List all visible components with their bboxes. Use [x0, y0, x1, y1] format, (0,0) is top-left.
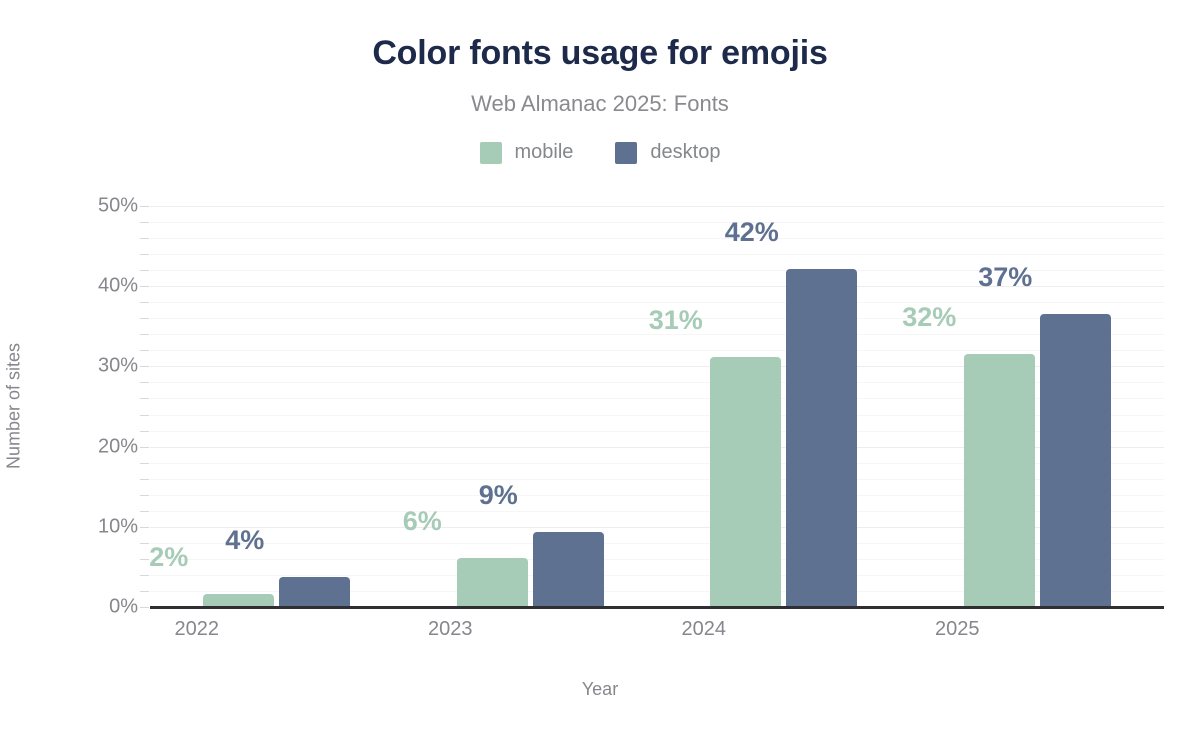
chart-legend: mobile desktop — [0, 141, 1200, 164]
gridline-minor — [150, 302, 1164, 303]
bar-desktop-2025[interactable] — [1040, 314, 1111, 607]
legend-label-desktop: desktop — [650, 141, 720, 164]
x-tick-label-2023: 2023 — [370, 618, 530, 641]
y-tick-label: 0% — [18, 596, 138, 619]
gridline-major — [150, 206, 1164, 207]
bar-value-label-desktop-2023: 9% — [428, 480, 568, 511]
bar-value-label-mobile-2024: 31% — [606, 305, 746, 336]
y-tick-mark — [140, 511, 149, 512]
y-tick-mark — [140, 286, 149, 287]
y-tick-mark — [140, 527, 149, 528]
bar-value-label-desktop-2024: 42% — [682, 217, 822, 248]
bar-desktop-2023[interactable] — [533, 532, 604, 607]
x-tick-label-2022: 2022 — [117, 618, 277, 641]
gridline-minor — [150, 238, 1164, 239]
y-tick-mark — [140, 495, 149, 496]
y-tick-mark — [140, 270, 149, 271]
chart-subtitle: Web Almanac 2025: Fonts — [0, 91, 1200, 117]
y-tick-mark — [140, 431, 149, 432]
y-tick-mark — [140, 350, 149, 351]
bar-mobile-2024[interactable] — [710, 357, 781, 607]
y-tick-label: 30% — [18, 355, 138, 378]
bar-value-label-mobile-2025: 32% — [859, 302, 999, 333]
chart-container: Color fonts usage for emojis Web Almanac… — [0, 0, 1200, 742]
gridline-minor — [150, 254, 1164, 255]
y-tick-mark — [140, 318, 149, 319]
legend-item-desktop[interactable]: desktop — [615, 141, 720, 164]
y-tick-mark — [140, 607, 149, 608]
gridline-minor — [150, 350, 1164, 351]
bar-mobile-2023[interactable] — [457, 558, 528, 607]
y-tick-mark — [140, 222, 149, 223]
y-tick-mark — [140, 366, 149, 367]
gridline-minor — [150, 222, 1164, 223]
bar-value-label-desktop-2025: 37% — [935, 262, 1075, 293]
y-tick-mark — [140, 463, 149, 464]
y-tick-mark — [140, 382, 149, 383]
x-tick-label-2024: 2024 — [624, 618, 784, 641]
y-tick-mark — [140, 447, 149, 448]
legend-item-mobile[interactable]: mobile — [480, 141, 574, 164]
y-tick-mark — [140, 302, 149, 303]
bar-desktop-2022[interactable] — [279, 577, 350, 607]
y-tick-label: 40% — [18, 275, 138, 298]
y-tick-mark — [140, 334, 149, 335]
y-tick-mark — [140, 591, 149, 592]
x-axis-title: Year — [0, 679, 1200, 700]
y-tick-mark — [140, 398, 149, 399]
y-tick-label: 20% — [18, 435, 138, 458]
y-tick-mark — [140, 479, 149, 480]
y-tick-mark — [140, 575, 149, 576]
x-tick-label-2025: 2025 — [877, 618, 1037, 641]
bar-value-label-mobile-2023: 6% — [352, 506, 492, 537]
plot-area: 2%4%6%9%31%42%32%37% — [150, 206, 1164, 607]
y-tick-mark — [140, 238, 149, 239]
bar-desktop-2024[interactable] — [786, 269, 857, 607]
legend-label-mobile: mobile — [515, 141, 574, 164]
y-tick-mark — [140, 254, 149, 255]
bar-mobile-2025[interactable] — [964, 354, 1035, 607]
y-tick-mark — [140, 206, 149, 207]
legend-swatch-desktop — [615, 142, 637, 164]
y-tick-label: 50% — [18, 195, 138, 218]
x-axis-line — [150, 606, 1164, 609]
chart-title: Color fonts usage for emojis — [0, 34, 1200, 73]
y-tick-label: 10% — [18, 515, 138, 538]
y-tick-mark — [140, 415, 149, 416]
legend-swatch-mobile — [480, 142, 502, 164]
bar-value-label-desktop-2022: 4% — [175, 525, 315, 556]
